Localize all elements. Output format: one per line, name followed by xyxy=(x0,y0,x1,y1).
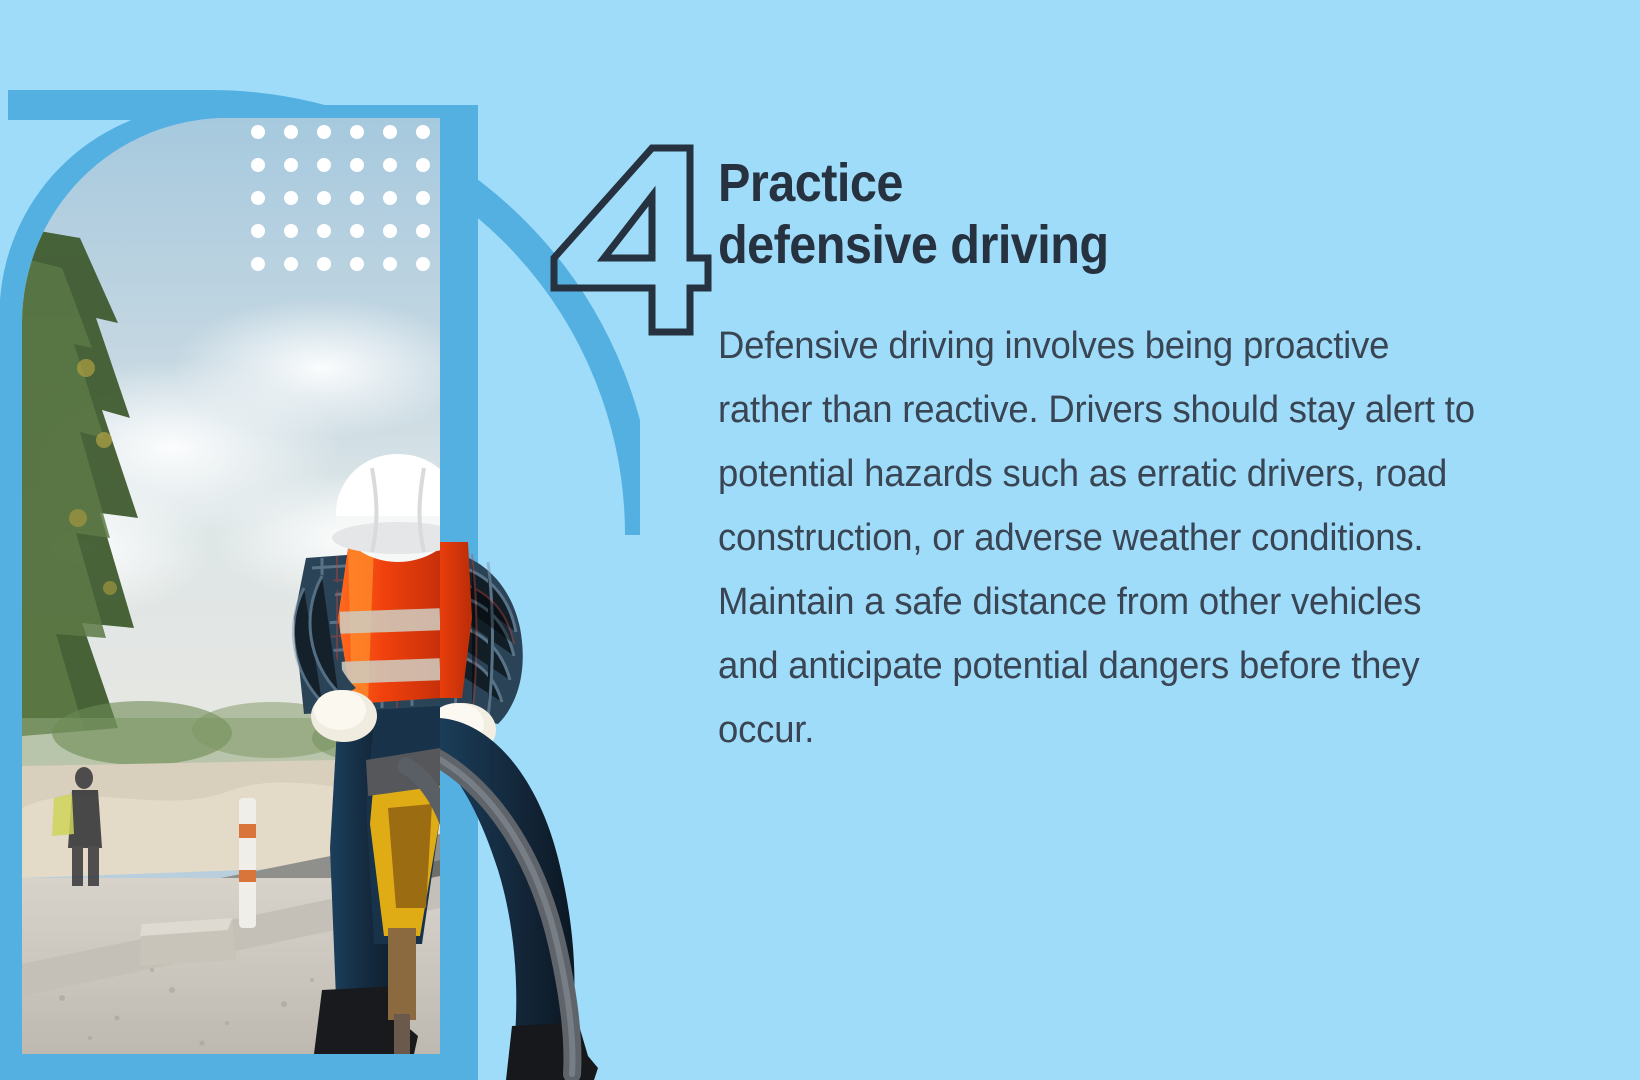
slide-canvas: Practice defensive driving Defensive dri… xyxy=(0,0,1640,1080)
text-column: Practice defensive driving Defensive dri… xyxy=(718,152,1508,762)
reflective-stripe xyxy=(340,608,440,633)
road-post xyxy=(239,798,256,928)
step-number-4 xyxy=(540,140,720,340)
numeral-outline xyxy=(554,148,708,332)
reflective-stripe xyxy=(342,658,440,683)
dot-grid-decoration xyxy=(251,125,431,275)
page-title: Practice defensive driving xyxy=(718,152,1429,276)
body-paragraph: Defensive driving involves being proacti… xyxy=(718,276,1486,762)
